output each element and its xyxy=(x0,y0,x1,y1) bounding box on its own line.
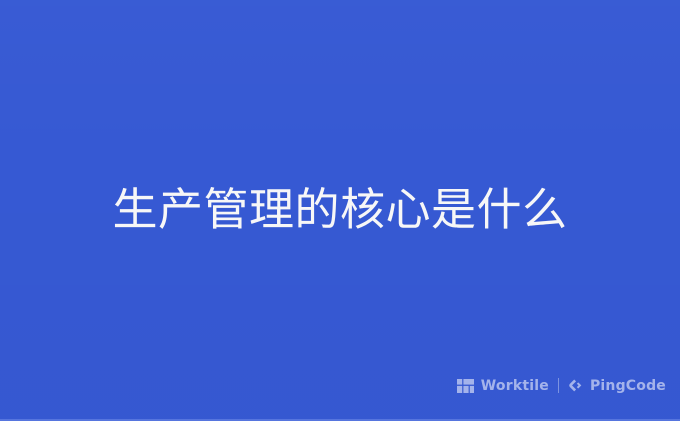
page-title: 生产管理的核心是什么 xyxy=(112,183,567,237)
worktile-grid-icon xyxy=(457,379,474,393)
logo-pingcode: PingCode xyxy=(568,378,666,393)
slide-canvas: 生产管理的核心是什么 Worktile xyxy=(0,0,680,421)
worktile-wordmark: Worktile xyxy=(481,379,549,393)
brand-bar: Worktile PingCode xyxy=(457,378,666,393)
brand-separator xyxy=(558,378,559,393)
pingcode-wordmark: PingCode xyxy=(590,379,666,393)
logo-worktile: Worktile xyxy=(457,379,549,393)
pingcode-chevron-icon xyxy=(568,378,583,393)
title-container: 生产管理的核心是什么 xyxy=(0,0,680,421)
